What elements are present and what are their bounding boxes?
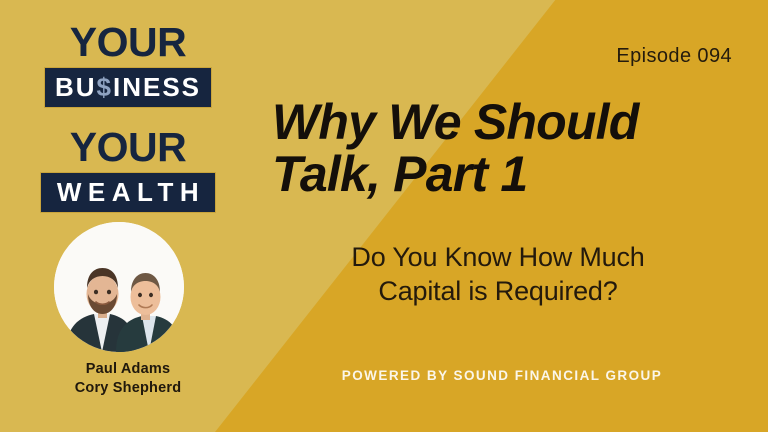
hosts-photo-avatar xyxy=(54,222,184,352)
podcast-episode-cover: YOUR BU$INESS YOUR WEALTH xyxy=(0,0,768,432)
episode-number-label: Episode 094 xyxy=(616,45,732,68)
logo-word-your-top: YOUR xyxy=(0,22,256,62)
hosts-photo-illustration xyxy=(54,222,184,352)
logo-bar-business-pre: BU xyxy=(55,72,97,102)
episode-subtitle: Do You Know How Much Capital is Required… xyxy=(276,240,720,308)
logo-bar-business: BU$INESS xyxy=(44,67,212,108)
episode-title-line-1: Why We Should xyxy=(272,96,724,148)
dollar-sign-icon: $ xyxy=(97,72,113,102)
logo-word-your-bottom: YOUR xyxy=(0,127,256,167)
episode-title-line-2: Talk, Part 1 xyxy=(272,148,724,200)
episode-subtitle-line-1: Do You Know How Much xyxy=(276,240,720,274)
episode-subtitle-line-2: Capital is Required? xyxy=(276,274,720,308)
host-name-2: Cory Shepherd xyxy=(0,379,256,398)
brand-logo: YOUR BU$INESS YOUR WEALTH xyxy=(0,22,256,213)
powered-by-footer: POWERED BY SOUND FINANCIAL GROUP xyxy=(276,368,728,383)
logo-bar-wealth: WEALTH xyxy=(40,172,216,213)
logo-bar-business-post: INESS xyxy=(113,72,201,102)
host-name-1: Paul Adams xyxy=(0,360,256,379)
hosts-names: Paul Adams Cory Shepherd xyxy=(0,360,256,398)
episode-title: Why We Should Talk, Part 1 xyxy=(272,96,724,200)
